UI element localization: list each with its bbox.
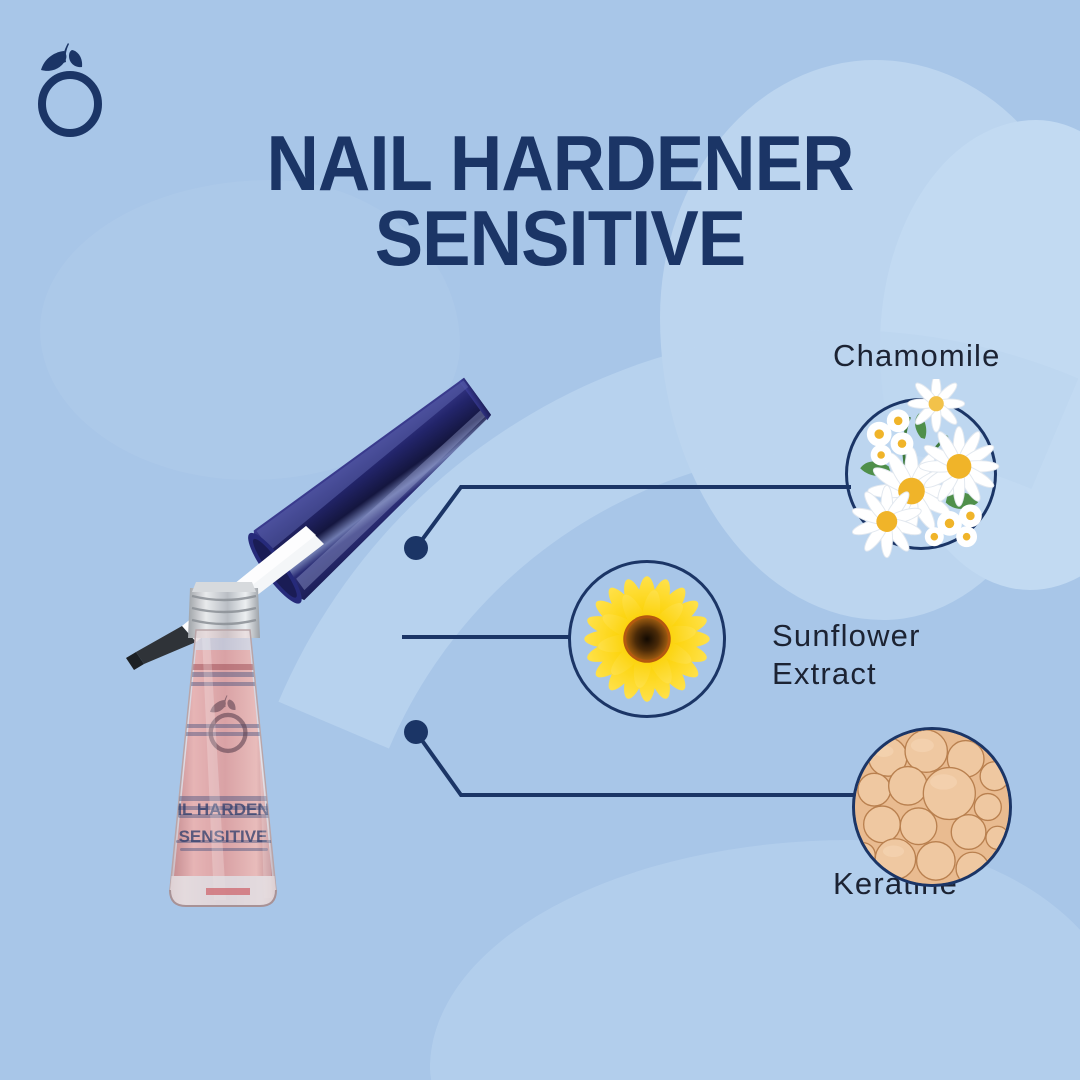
bottle-label-line-2: SENSITIVE [179, 827, 268, 846]
ingredient-circle-keratine [852, 727, 1012, 887]
ingredient-label-sunflower: Sunflower Extract [772, 617, 921, 693]
ingredient-label-chamomile: Chamomile [833, 337, 1001, 375]
daisy-large-1 [868, 447, 955, 534]
bottle-body: NAIL HARDENER SENSITIVE [153, 630, 293, 906]
ingredient-circle-chamomile [845, 398, 997, 550]
daisy-cluster-upper-left [867, 409, 914, 465]
sunflower-icon [571, 563, 723, 715]
bottle-label-line-1: NAIL HARDENER [153, 800, 293, 819]
title-line-2: SENSITIVE [179, 201, 942, 276]
page-title: NAIL HARDENER SENSITIVE [179, 126, 942, 276]
daisy-large-2 [919, 427, 999, 507]
product-infographic-poster: NAIL HARDENER SENSITIVE Chamomile [0, 0, 1080, 1080]
nail-polish-bottle: NAIL HARDENER SENSITIVE [110, 320, 580, 940]
ingredient-circle-sunflower [568, 560, 726, 718]
keratin-cells-icon [855, 730, 1009, 884]
olive-leaf-ring-logo [28, 38, 118, 138]
